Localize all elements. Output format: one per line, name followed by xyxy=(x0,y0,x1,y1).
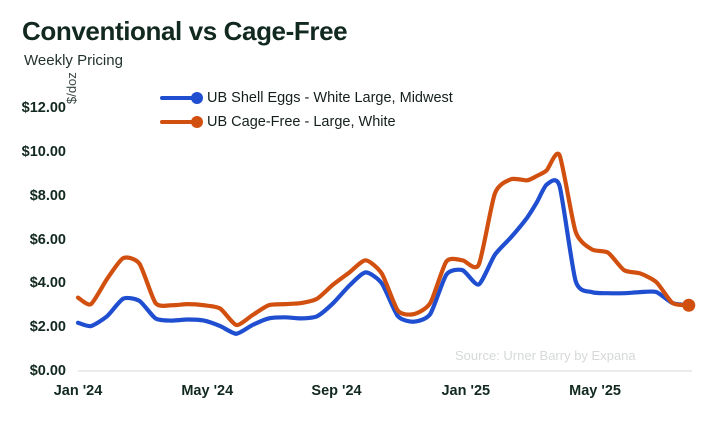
source-attribution: Source: Urner Barry by Expana xyxy=(455,348,636,363)
series-end-marker-cage-free xyxy=(682,299,695,312)
chart-container: Conventional vs Cage-Free Weekly Pricing… xyxy=(0,0,707,428)
series-line-cage-free xyxy=(78,154,689,325)
plot-area xyxy=(0,0,707,428)
series-line-shell-eggs xyxy=(78,180,689,334)
